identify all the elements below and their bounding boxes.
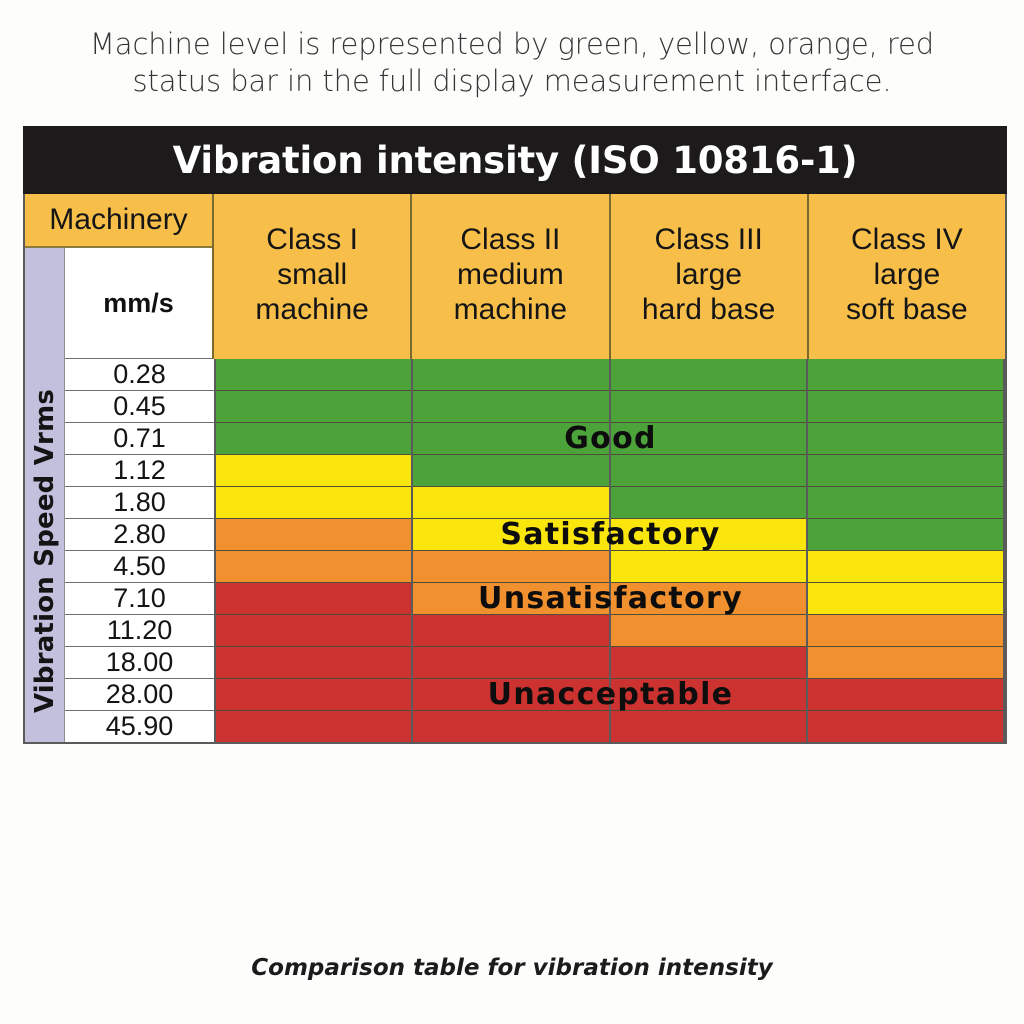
rating-cell bbox=[216, 551, 411, 583]
speed-value-cell: 7.10 bbox=[65, 583, 214, 615]
rating-cell bbox=[413, 583, 608, 615]
class-header-1: Class Ismallmachine bbox=[214, 194, 412, 359]
rating-cell bbox=[413, 551, 608, 583]
rating-cell bbox=[216, 455, 411, 487]
class-header-3: Class IIIlargehard base bbox=[611, 194, 809, 359]
vibration-intensity-table-figure: Machine level is represented by green, y… bbox=[0, 0, 1024, 1024]
rating-column-2 bbox=[413, 359, 610, 742]
rating-cell bbox=[216, 583, 411, 615]
rating-cell bbox=[611, 423, 806, 455]
rating-cell bbox=[413, 455, 608, 487]
rating-column-1 bbox=[216, 359, 413, 742]
rating-cell bbox=[611, 583, 806, 615]
class-header-1-line-3: machine bbox=[255, 293, 368, 328]
unit-header-label: mm/s bbox=[103, 288, 174, 319]
class-header-1-line-1: Class I bbox=[266, 223, 358, 258]
speed-value-cell: 0.45 bbox=[65, 391, 214, 423]
unit-header-row: mm/s bbox=[25, 248, 212, 359]
table-title: Vibration intensity (ISO 10816-1) bbox=[173, 139, 858, 182]
rating-cell bbox=[611, 551, 806, 583]
rating-cell bbox=[216, 391, 411, 423]
rating-cell bbox=[216, 487, 411, 519]
speed-value-cell: 4.50 bbox=[65, 551, 214, 583]
machinery-header: Machinery bbox=[25, 194, 212, 248]
rating-cell bbox=[413, 679, 608, 711]
axis-label: Vibration Speed Vrms bbox=[30, 388, 60, 712]
rating-cell bbox=[216, 679, 411, 711]
rating-cell bbox=[413, 487, 608, 519]
class-header-group: Class IsmallmachineClass IImediummachine… bbox=[214, 194, 1005, 359]
axis-strip-header-spacer bbox=[25, 248, 65, 359]
machinery-unit-header-block: Machinery mm/s bbox=[25, 194, 214, 359]
rating-cell bbox=[611, 615, 806, 647]
rating-cell bbox=[808, 615, 1003, 647]
rating-cell bbox=[413, 519, 608, 551]
rating-cell bbox=[808, 551, 1003, 583]
rating-cell bbox=[216, 519, 411, 551]
rating-cell bbox=[808, 391, 1003, 423]
class-header-1-line-2: small bbox=[277, 258, 347, 293]
table-body: Vibration Speed Vrms 0.280.450.711.121.8… bbox=[23, 359, 1007, 744]
rating-column-3 bbox=[611, 359, 808, 742]
rating-cell bbox=[413, 647, 608, 679]
rating-cell bbox=[611, 455, 806, 487]
rating-cell bbox=[611, 519, 806, 551]
class-header-4: Class IVlargesoft base bbox=[809, 194, 1005, 359]
speed-value-cell: 1.12 bbox=[65, 455, 214, 487]
rating-cell bbox=[216, 359, 411, 391]
axis-label-column: Vibration Speed Vrms bbox=[25, 359, 65, 742]
class-header-3-line-2: large bbox=[675, 258, 742, 293]
rating-cell bbox=[611, 679, 806, 711]
rating-cell bbox=[413, 711, 608, 742]
speed-value-cell: 2.80 bbox=[65, 519, 214, 551]
rating-cell bbox=[611, 487, 806, 519]
rating-cell bbox=[808, 423, 1003, 455]
rating-cell bbox=[808, 679, 1003, 711]
rating-cell bbox=[413, 423, 608, 455]
top-caption-line-1: Machine level is represented by green, y… bbox=[90, 27, 934, 61]
unit-header: mm/s bbox=[65, 248, 212, 359]
top-caption-line-2: status bar in the full display measureme… bbox=[0, 63, 1024, 100]
speed-value-cell: 28.00 bbox=[65, 679, 214, 711]
class-header-3-line-1: Class III bbox=[654, 223, 762, 258]
speed-value-cell: 45.90 bbox=[65, 711, 214, 742]
top-caption: Machine level is represented by green, y… bbox=[0, 26, 1024, 100]
class-header-4-line-1: Class IV bbox=[851, 223, 963, 258]
bottom-caption: Comparison table for vibration intensity bbox=[0, 955, 1024, 981]
speed-value-cell: 0.71 bbox=[65, 423, 214, 455]
rating-cell bbox=[808, 583, 1003, 615]
rating-cell bbox=[413, 615, 608, 647]
rating-grid: GoodSatisfactoryUnsatisfactoryUnacceptab… bbox=[214, 359, 1005, 742]
rating-cell bbox=[413, 391, 608, 423]
rating-cell bbox=[216, 423, 411, 455]
class-header-4-line-2: large bbox=[874, 258, 941, 293]
class-header-2-line-2: medium bbox=[457, 258, 564, 293]
table-title-band: Vibration intensity (ISO 10816-1) bbox=[23, 126, 1007, 194]
rating-cell bbox=[216, 647, 411, 679]
class-header-2-line-1: Class II bbox=[460, 223, 560, 258]
rating-cell bbox=[808, 487, 1003, 519]
speed-value-cell: 18.00 bbox=[65, 647, 214, 679]
speed-value-cell: 0.28 bbox=[65, 359, 214, 391]
rating-column-4 bbox=[808, 359, 1005, 742]
table-header-row: Machinery mm/s Class IsmallmachineClass … bbox=[23, 194, 1007, 359]
vibration-table: Vibration intensity (ISO 10816-1) Machin… bbox=[23, 126, 1007, 744]
rating-cell bbox=[808, 455, 1003, 487]
rating-cell bbox=[808, 711, 1003, 742]
rating-cell bbox=[216, 711, 411, 742]
class-header-4-line-3: soft base bbox=[846, 293, 968, 328]
class-header-2-line-3: machine bbox=[454, 293, 567, 328]
speed-value-cell: 11.20 bbox=[65, 615, 214, 647]
speed-value-cell: 1.80 bbox=[65, 487, 214, 519]
rating-cell bbox=[216, 615, 411, 647]
rating-cell bbox=[611, 647, 806, 679]
speed-value-column: 0.280.450.711.121.802.804.507.1011.2018.… bbox=[65, 359, 214, 742]
class-header-2: Class IImediummachine bbox=[412, 194, 610, 359]
class-header-3-line-3: hard base bbox=[642, 293, 775, 328]
rating-cell bbox=[808, 359, 1003, 391]
rating-cell bbox=[413, 359, 608, 391]
rating-cell bbox=[808, 647, 1003, 679]
machinery-header-label: Machinery bbox=[49, 203, 187, 237]
rating-cell bbox=[611, 391, 806, 423]
rating-cell bbox=[808, 519, 1003, 551]
rating-cell bbox=[611, 711, 806, 742]
rating-cell bbox=[611, 359, 806, 391]
